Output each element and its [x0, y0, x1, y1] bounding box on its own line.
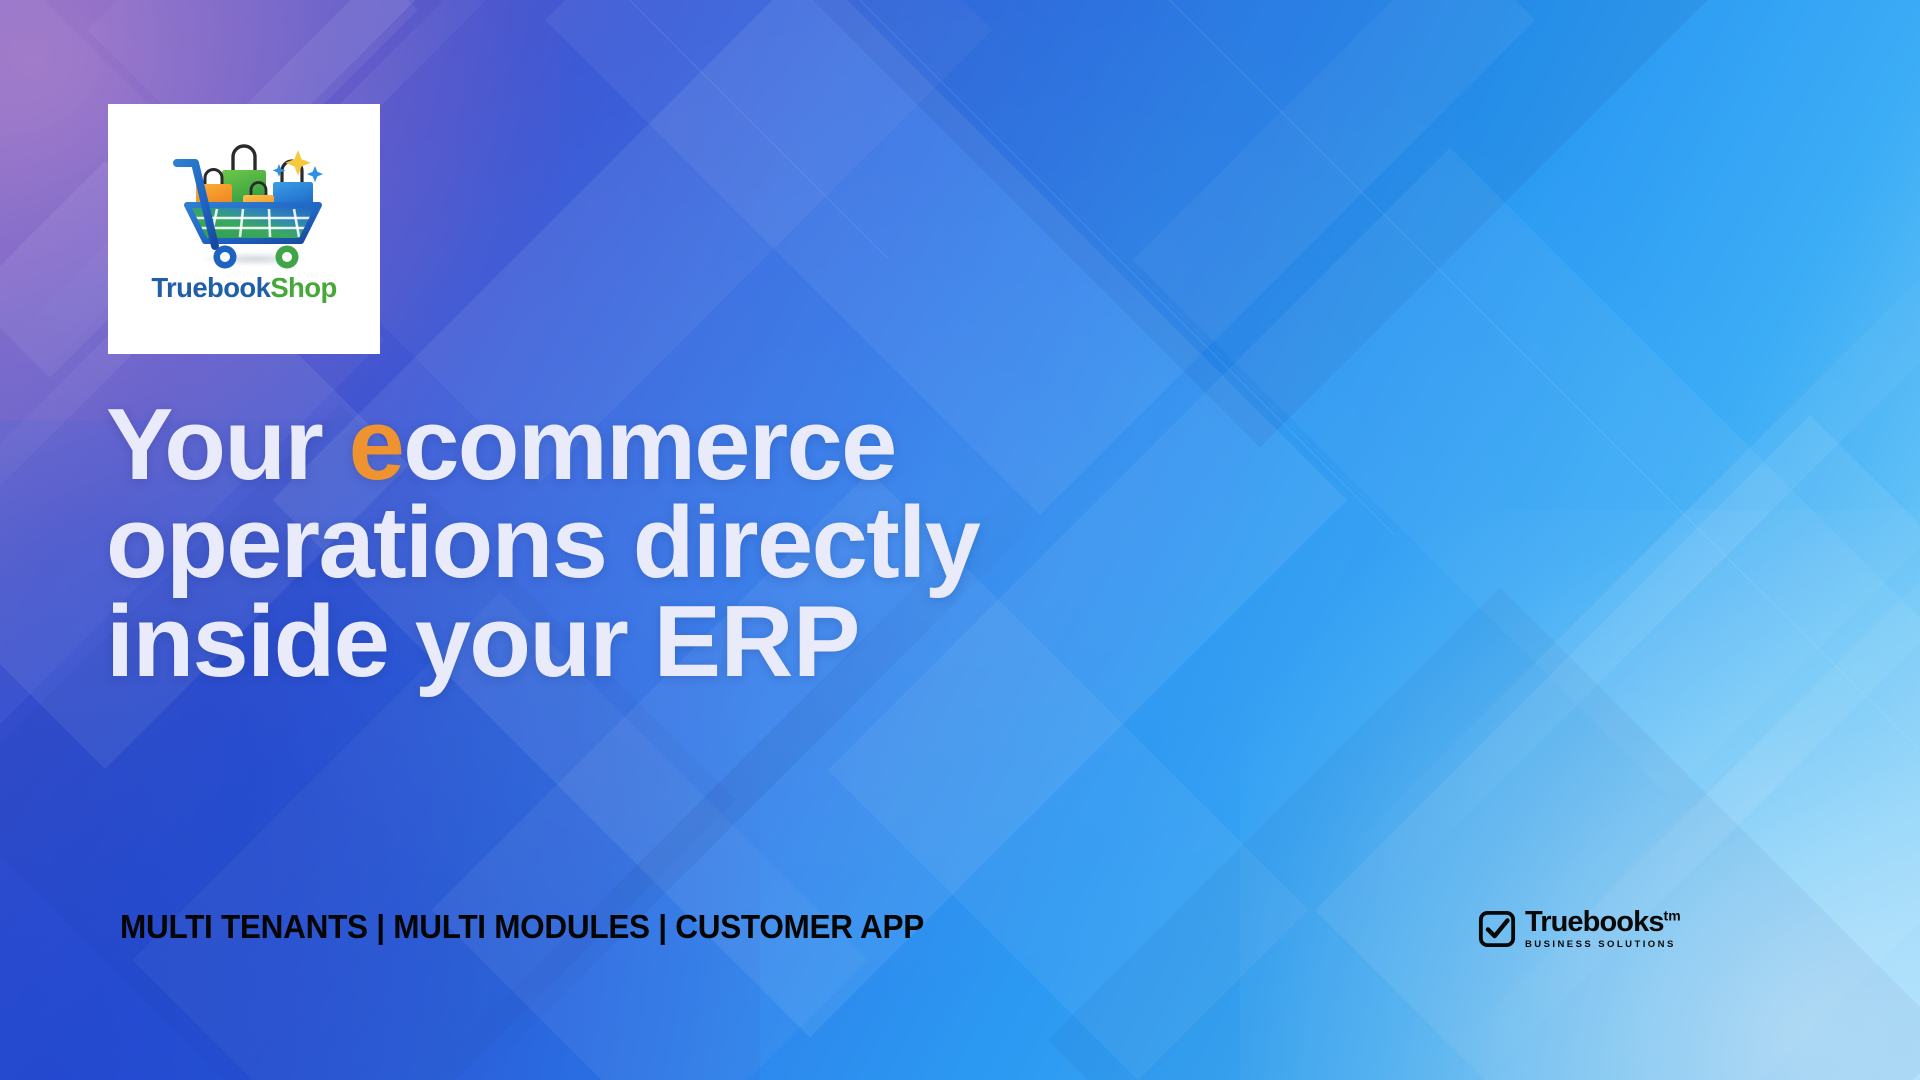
feature-tagline: MULTI TENANTS | MULTI MODULES | CUSTOMER… [120, 908, 924, 946]
headline-line-1-post: commerce [403, 389, 896, 501]
headline-line-1: Your ecommerce [106, 396, 1226, 494]
corporate-name-text: Truebooks [1525, 906, 1664, 938]
headline-line-1-pre: Your [106, 389, 349, 501]
headline-line-2: operations directly [106, 494, 1226, 592]
headline-accent-e: e [349, 389, 404, 501]
trademark-mark: tm [1664, 907, 1681, 923]
checkbox-checked-icon [1478, 910, 1516, 948]
brand-wordmark: TruebookShop [151, 272, 336, 304]
corporate-logo-text: Truebookstm BUSINESS SOLUTIONS [1525, 908, 1681, 950]
headline-line-3: inside your ERP [106, 593, 1226, 691]
wordmark-primary: Truebook [151, 272, 270, 303]
corporate-logo: Truebookstm BUSINESS SOLUTIONS [1478, 908, 1681, 950]
headline-line-3-pre: inside your [106, 586, 654, 698]
corporate-subtitle: BUSINESS SOLUTIONS [1525, 939, 1681, 950]
headline: Your ecommerce operations directly insid… [106, 396, 1226, 691]
wordmark-secondary: Shop [270, 272, 336, 303]
corporate-name: Truebookstm [1525, 908, 1681, 938]
promotional-banner: TruebookShop Your ecommerce operations d… [0, 0, 1920, 1080]
headline-erp: ERP [654, 586, 860, 698]
shopping-cart-icon [151, 126, 337, 276]
brand-logo-card: TruebookShop [108, 104, 380, 354]
